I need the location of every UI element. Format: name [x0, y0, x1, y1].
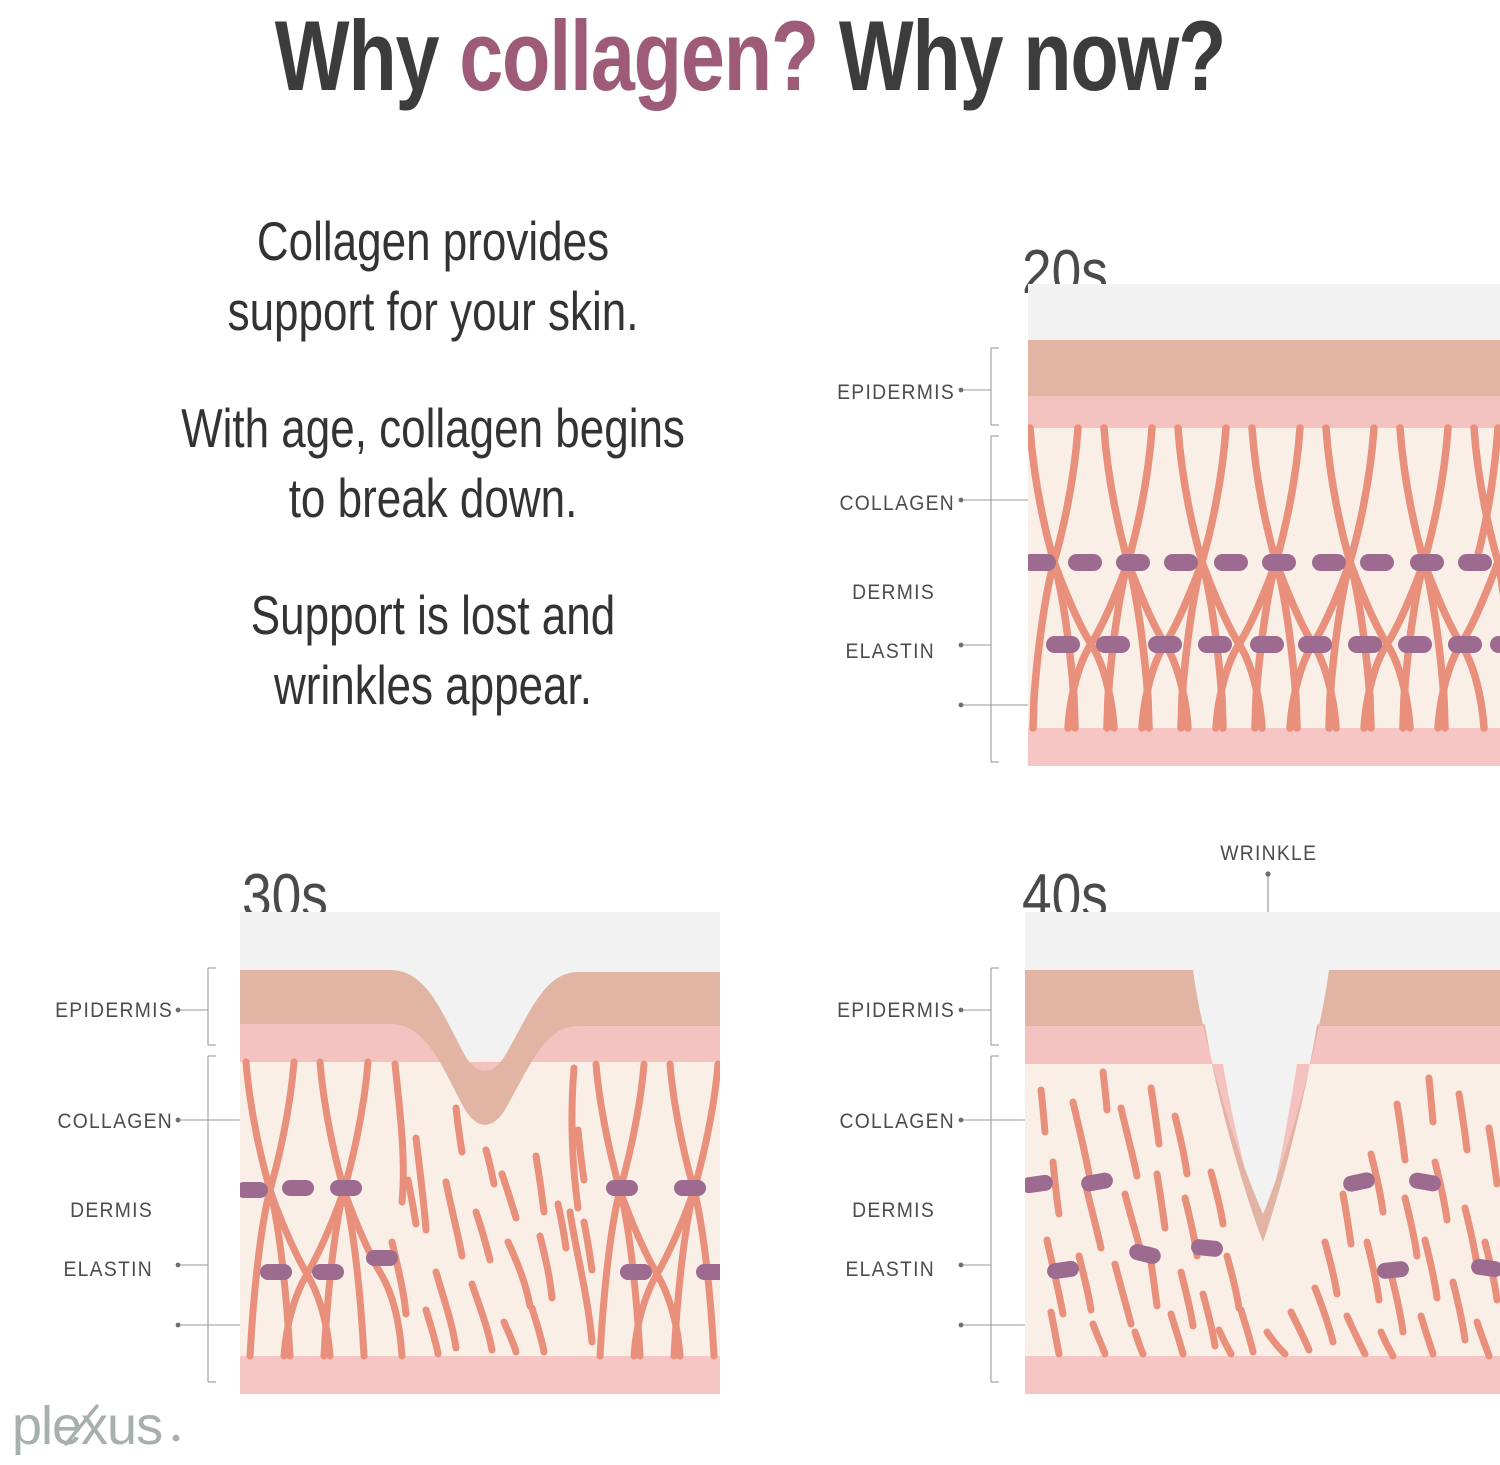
label-dermis-40s: DERMIS	[710, 1200, 935, 1221]
skin-diagram-40s	[1025, 912, 1500, 1394]
infographic-page: Why collagen? Why now? Collagen provides…	[0, 0, 1500, 1465]
label-elastin-30s: ELASTIN	[0, 1259, 153, 1280]
label-dermis-20s: DERMIS	[710, 582, 935, 603]
copy-paragraph-3: Support is lost and wrinkles appear.	[149, 580, 717, 721]
label-collagen-40s: COLLAGEN	[711, 1111, 955, 1132]
skin-diagram-30s	[240, 912, 720, 1394]
label-epidermis-20s: EPIDERMIS	[711, 382, 955, 403]
label-elastin-20s: ELASTIN	[710, 641, 935, 662]
skin-diagram-20s	[1028, 284, 1500, 766]
label-elastin-40s: ELASTIN	[710, 1259, 935, 1280]
title-accent-word: collagen?	[459, 0, 818, 111]
label-collagen-20s: COLLAGEN	[711, 493, 955, 514]
leader-lines-20s	[955, 340, 1035, 770]
plexus-wordmark-text: plexus	[12, 1398, 162, 1456]
leader-lines-40s	[955, 960, 1035, 1390]
label-dermis-30s: DERMIS	[0, 1200, 153, 1221]
plexus-logo: plexus	[12, 1398, 212, 1460]
page-title: Why collagen? Why now?	[150, 4, 1350, 108]
copy-block: Collagen provides support for your skin.…	[149, 206, 717, 720]
label-collagen-30s: COLLAGEN	[0, 1111, 173, 1132]
label-epidermis-30s: EPIDERMIS	[0, 1000, 173, 1021]
copy-paragraph-1: Collagen provides support for your skin.	[149, 206, 717, 347]
plexus-wordmark: plexus	[12, 1398, 212, 1460]
title-part-1: Why	[275, 0, 459, 111]
plexus-logo-dot	[173, 1435, 180, 1442]
label-epidermis-40s: EPIDERMIS	[711, 1000, 955, 1021]
title-part-2: Why now?	[818, 0, 1225, 111]
label-wrinkle-40s: WRINKLE	[1220, 843, 1386, 864]
copy-paragraph-2: With age, collagen begins to break down.	[149, 393, 717, 534]
